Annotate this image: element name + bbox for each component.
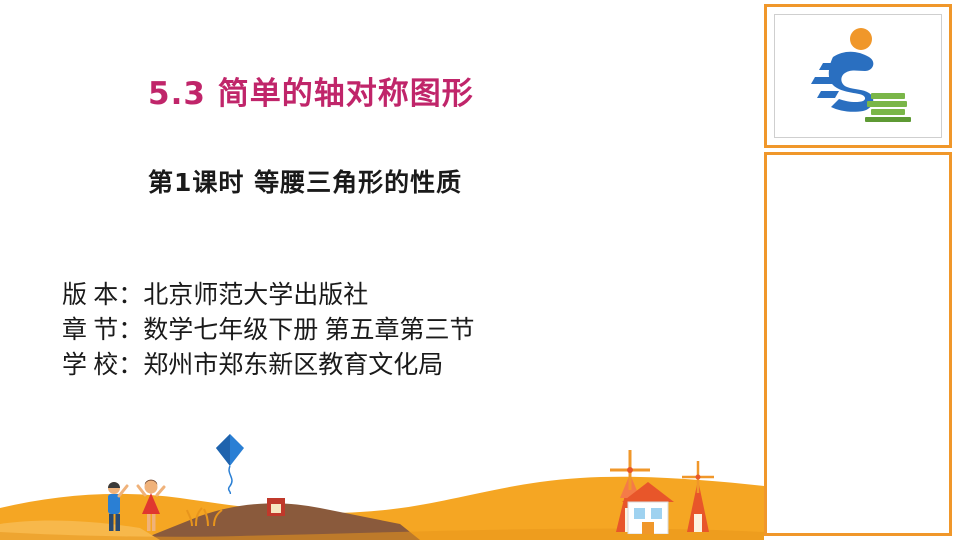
info-block: 版 本：北京师范大学出版社 章 节：数学七年级下册 第五章第三节 学 校：郑州市…	[62, 278, 475, 383]
info-line-version: 版 本：北京师范大学出版社	[62, 278, 475, 313]
house-icon	[620, 480, 676, 534]
school-logo-icon	[793, 23, 923, 129]
info-line-school: 学 校：郑州市郑东新区教育文化局	[62, 348, 475, 383]
page-subtitle: 第1课时 等腰三角形的性质	[148, 163, 462, 199]
grass-icon	[186, 500, 226, 526]
sidebar-panel	[764, 152, 952, 536]
girl-figure-icon	[136, 478, 166, 532]
page-title: 5.3 简单的轴对称图形	[148, 68, 474, 113]
kite-icon	[206, 432, 254, 494]
logo-frame-inner	[774, 14, 942, 138]
windmill-small-icon	[672, 458, 724, 532]
crate-icon	[266, 496, 286, 518]
boy-figure-icon	[100, 480, 130, 532]
info-line-chapter: 章 节：数学七年级下册 第五章第三节	[62, 313, 475, 348]
slide-root: 5.3 简单的轴对称图形 第1课时 等腰三角形的性质 版 本：北京师范大学出版社…	[0, 0, 960, 540]
